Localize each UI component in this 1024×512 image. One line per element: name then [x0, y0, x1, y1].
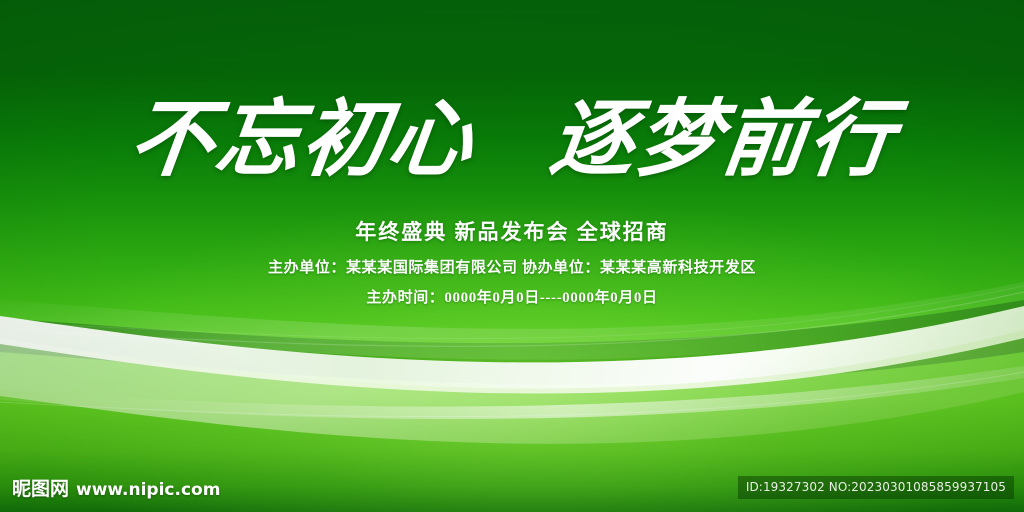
- subtitle: 年终盛典 新品发布会 全球招商: [0, 216, 1024, 246]
- brand-watermark: 昵图网 www.nipic.com: [12, 474, 220, 501]
- time-line: 主办时间：0000年0月0日----0000年0月0日: [0, 286, 1024, 307]
- id-badge: ID:19327302 NO:20230301085859937105: [738, 476, 1014, 499]
- headline: 不忘初心 逐梦前行: [124, 96, 899, 183]
- poster-canvas: 不忘初心 逐梦前行 年终盛典 新品发布会 全球招商 主办单位：某某某国际集团有限…: [0, 0, 1024, 512]
- headline-part-2: 逐梦前行: [545, 92, 901, 186]
- nipic-logo: 昵图网: [12, 474, 69, 501]
- organizer-line: 主办单位：某某某国际集团有限公司 协办单位：某某某高新科技开发区: [0, 256, 1024, 277]
- headline-block: 不忘初心 逐梦前行: [0, 96, 1024, 183]
- subtitle-block: 年终盛典 新品发布会 全球招商 主办单位：某某某国际集团有限公司 协办单位：某某…: [0, 216, 1024, 307]
- headline-part-1: 不忘初心: [124, 92, 480, 186]
- nipic-url: www.nipic.com: [76, 480, 220, 500]
- footer-bar: 昵图网 www.nipic.com ID:19327302 NO:2023030…: [0, 462, 1024, 512]
